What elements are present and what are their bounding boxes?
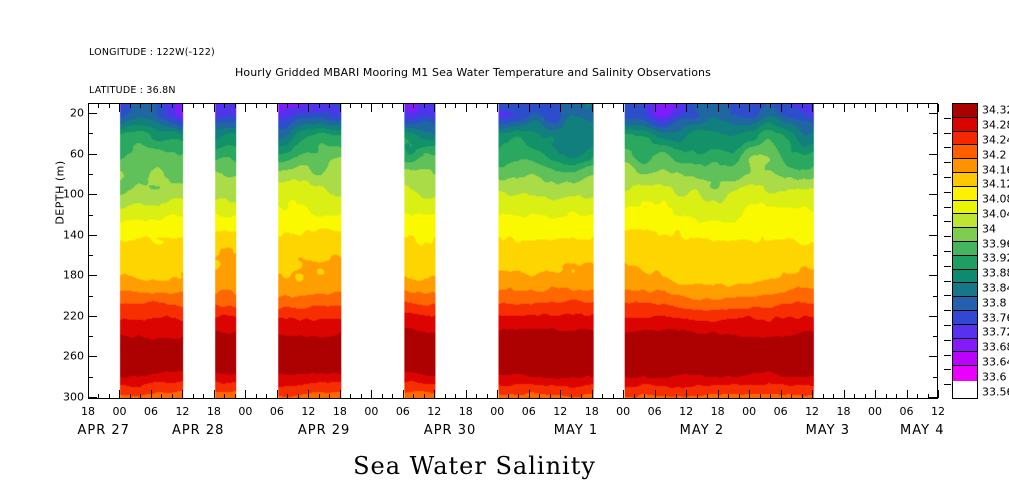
colorbar-tick-label: 33.8 <box>982 296 1007 309</box>
colorbar-tick-label: 34.12 <box>982 178 1009 191</box>
colorbar-tick-label: 34 <box>982 222 996 235</box>
colorbar-tick-label: 33.88 <box>982 267 1009 280</box>
colorbar-tick-label: 33.84 <box>982 282 1009 295</box>
colorbar-tick-label: 33.6 <box>982 370 1007 383</box>
colorbar-tick-labels: 34.3234.2834.2434.234.1634.1234.0834.043… <box>0 0 1009 504</box>
chart-subtitle: Sea Water Salinity <box>0 452 1009 480</box>
colorbar-tick-label: 33.92 <box>982 252 1009 265</box>
colorbar-tick-label: 33.72 <box>982 326 1009 339</box>
colorbar-tick-label: 34.08 <box>982 193 1009 206</box>
colorbar-tick-label: 34.32 <box>982 104 1009 117</box>
colorbar-tick-label: 33.64 <box>982 356 1009 369</box>
colorbar-tick-label: 33.68 <box>982 341 1009 354</box>
colorbar-tick-label: 34.16 <box>982 163 1009 176</box>
colorbar-tick-label: 33.96 <box>982 237 1009 250</box>
colorbar-tick-label: 33.56 <box>982 385 1009 398</box>
colorbar-tick-label: 34.28 <box>982 119 1009 132</box>
colorbar-tick-label: 34.04 <box>982 208 1009 221</box>
colorbar-tick-label: 34.24 <box>982 134 1009 147</box>
colorbar-tick-label: 33.76 <box>982 311 1009 324</box>
colorbar-tick-label: 34.2 <box>982 148 1007 161</box>
